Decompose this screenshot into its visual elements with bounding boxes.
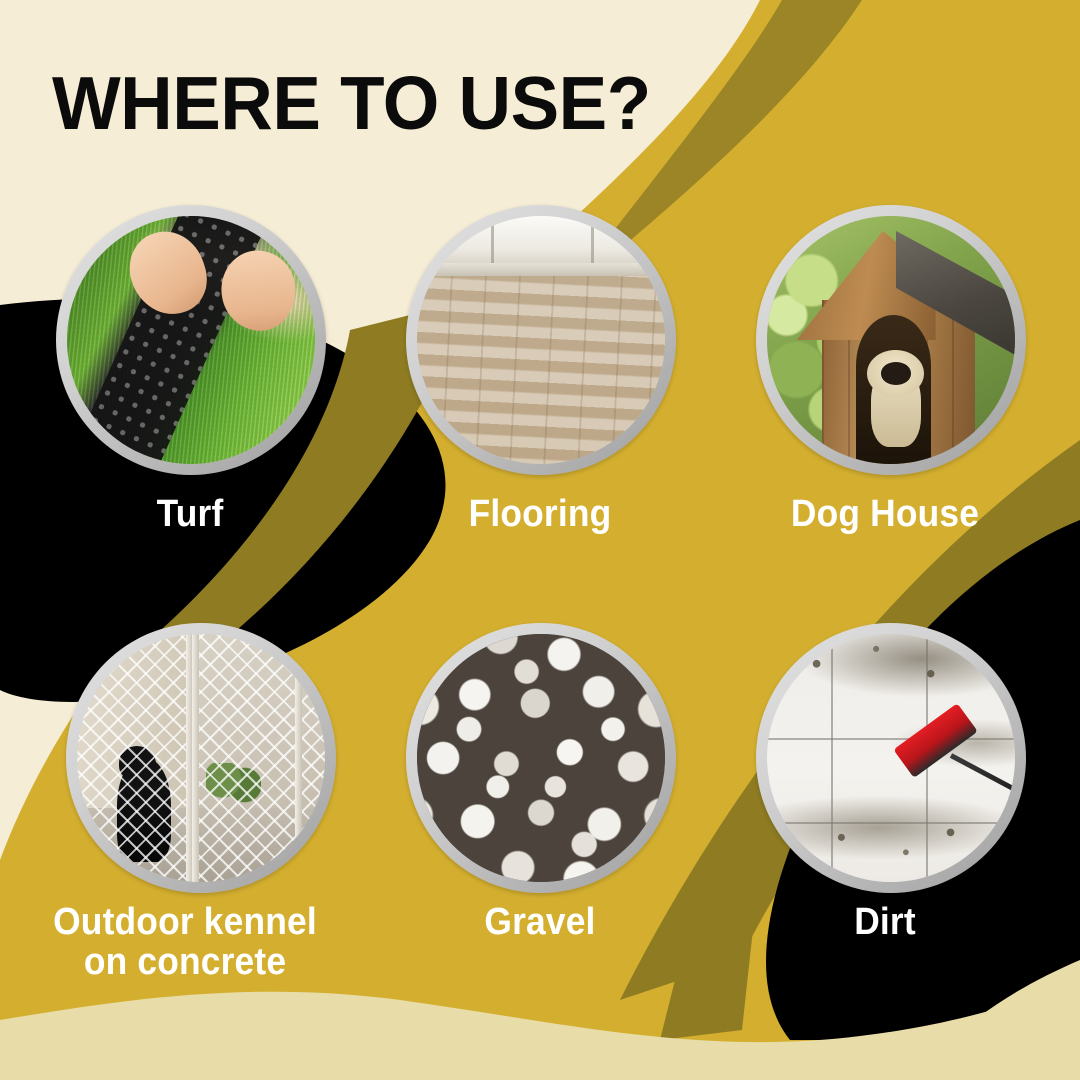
tile-label-turf: Turf: [69, 494, 311, 534]
flooring-photo: [417, 216, 665, 464]
dirt-specks: [767, 634, 1015, 882]
dog-house-photo: [767, 216, 1015, 464]
tile-turf[interactable]: [56, 205, 326, 475]
gravel-photo: [417, 634, 665, 882]
infographic-canvas: WHERE TO USE? Turf Floor: [0, 0, 1080, 1080]
chain-link-mesh: [77, 634, 325, 882]
tile-dog-house[interactable]: [756, 205, 1026, 475]
turf-photo: [67, 216, 315, 464]
cabinet-toekick: [417, 263, 665, 275]
tile-label-dog-house: Dog House: [755, 494, 1015, 534]
tile-dirt[interactable]: [756, 623, 1026, 893]
floor-planks-texture: [417, 276, 665, 464]
tile-label-dirt: Dirt: [755, 902, 1015, 942]
tile-gravel[interactable]: [406, 623, 676, 893]
tile-flooring[interactable]: [406, 205, 676, 475]
tile-label-gravel: Gravel: [414, 902, 665, 942]
tile-label-flooring: Flooring: [414, 494, 665, 534]
cabinet-panel: [417, 216, 665, 263]
pug-muzzle: [881, 362, 911, 384]
kennel-photo: [77, 634, 325, 882]
page-title: WHERE TO USE?: [52, 66, 651, 141]
tile-outdoor-kennel[interactable]: [66, 623, 336, 893]
dirt-photo: [767, 634, 1015, 882]
gravel-stones-texture: [417, 634, 665, 882]
tile-label-outdoor-kennel: Outdoor kennel on concrete: [22, 902, 348, 982]
